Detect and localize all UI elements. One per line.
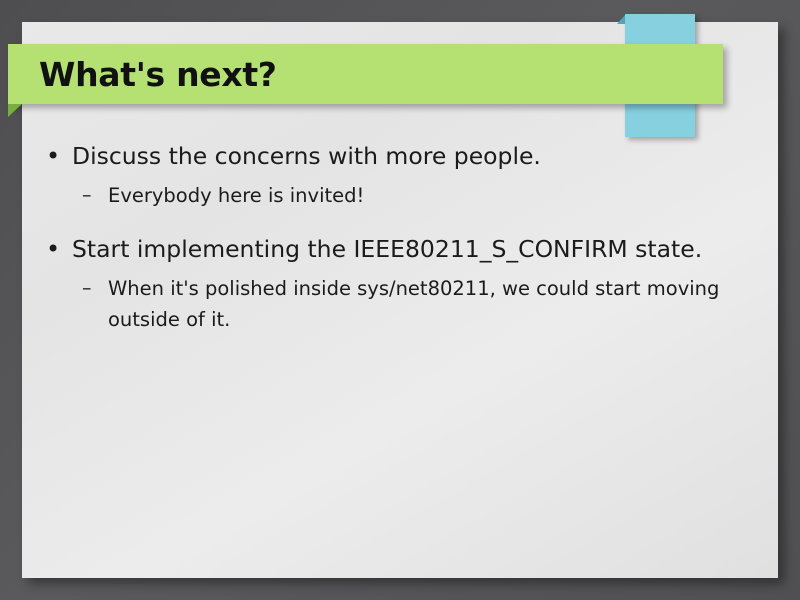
round-bullet-icon: • [42,231,72,267]
bullet-text: Start implementing the IEEE80211_S_CONFI… [72,231,702,267]
slide-body: • Discuss the concerns with more people.… [22,138,778,341]
dash-bullet-icon: – [80,180,108,211]
presentation-stage: What's next? • Discuss the concerns with… [0,0,800,600]
bullet-spacer [22,217,778,231]
bullet-text: When it's polished inside sys/net80211, … [108,273,748,335]
bullet-text: Everybody here is invited! [108,180,364,211]
title-banner: What's next? [8,44,723,104]
bullet-item: – When it's polished inside sys/net80211… [22,273,778,335]
bullet-item: • Start implementing the IEEE80211_S_CON… [22,231,778,267]
round-bullet-icon: • [42,138,72,174]
slide-title: What's next? [8,58,277,91]
bullet-item: – Everybody here is invited! [22,180,778,211]
dash-bullet-icon: – [80,273,108,304]
bullet-item: • Discuss the concerns with more people. [22,138,778,174]
title-banner-fold [8,104,22,117]
bullet-text: Discuss the concerns with more people. [72,138,541,174]
